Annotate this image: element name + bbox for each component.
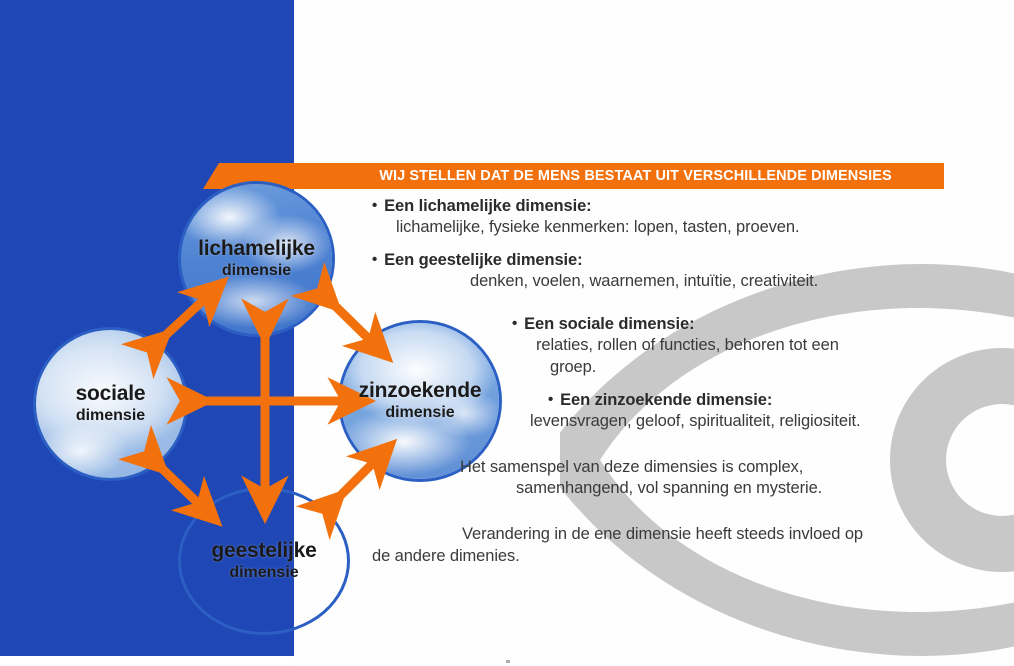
bullet-heading: Een geestelijke dimensie: [384,250,582,271]
circle-label-sub: dimensie [222,262,291,280]
banner-title: WIJ STELLEN DAT DE MENS BESTAAT UIT VERS… [327,163,944,189]
spacer [372,500,972,524]
paragraph-2-line-2: de andere dimenies. [372,546,972,568]
spacer [372,433,972,457]
spacer [372,239,972,250]
bullet-detail-geestelijke: denken, voelen, waarnemen, intuïtie, cre… [470,271,972,292]
circle-geestelijke[interactable]: geestelijke dimensie [178,487,350,635]
paragraph-2-line-1: Verandering in de ene dimensie heeft ste… [462,524,972,546]
circle-lichamelijke[interactable]: lichamelijke dimensie [178,181,335,337]
circle-label-main: lichamelijke [198,238,315,260]
paragraph-1-line-1: Het samenspel van deze dimensies is comp… [460,457,972,479]
bullet-heading: Een sociale dimensie: [524,314,694,335]
bullet-detail-zinzoekende: levensvragen, geloof, spiritualiteit, re… [530,411,972,432]
bullet-item-lichamelijke: • Een lichamelijke dimensie: [372,196,972,217]
bullet-heading: Een zinzoekende dimensie: [560,390,772,411]
paragraph-1-line-2: samenhangend, vol spanning en mysterie. [516,478,972,500]
circle-label-main: sociale [76,383,146,405]
circle-label-main: zinzoekende [359,380,482,402]
circle-label-sub: dimensie [229,564,298,582]
scan-speck [506,660,510,663]
bullet-heading: Een lichamelijke dimensie: [384,196,591,217]
bullet-item-sociale: • Een sociale dimensie: [512,314,972,335]
bullet-item-zinzoekende: • Een zinzoekende dimensie: [548,390,972,411]
bullet-dot-icon: • [512,314,517,333]
bullet-item-geestelijke: • Een geestelijke dimensie: [372,250,972,271]
bullet-detail-sociale-2: groep. [550,357,972,378]
bullet-detail-sociale-1: relaties, rollen of functies, behoren to… [536,335,972,356]
circle-sociale[interactable]: sociale dimensie [33,327,188,481]
bullet-dot-icon: • [548,390,553,409]
bullet-dot-icon: • [372,196,377,215]
spacer [372,292,972,314]
poster-canvas: WIJ STELLEN DAT DE MENS BESTAAT UIT VERS… [0,0,1014,666]
circle-label-main: geestelijke [211,540,316,562]
bullet-dot-icon: • [372,250,377,269]
bullet-detail-lichamelijke: lichamelijke, fysieke kenmerken: lopen, … [396,217,972,238]
circle-label-sub: dimensie [385,404,454,422]
circle-label-sub: dimensie [76,407,145,425]
